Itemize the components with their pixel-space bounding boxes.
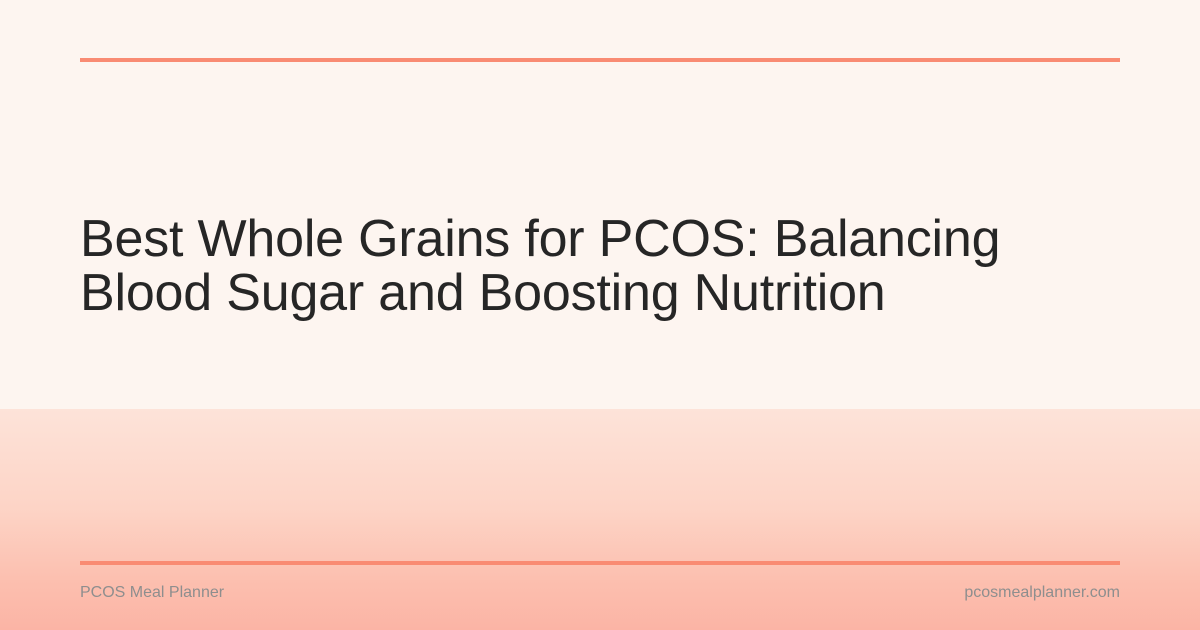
footer-accent-rule <box>80 561 1120 565</box>
footer-brand-name: PCOS Meal Planner <box>80 583 224 603</box>
top-accent-rule <box>80 58 1120 62</box>
title-block: Best Whole Grains for PCOS: Balancing Bl… <box>80 212 1080 320</box>
footer-website-url: pcosmealplanner.com <box>964 583 1120 603</box>
page-title-line-2: Sugar and Boosting Nutrition <box>226 264 885 322</box>
card-footer: PCOS Meal Planner pcosmealplanner.com <box>80 581 1120 605</box>
page-title: Best Whole Grains for PCOS: Balancing Bl… <box>80 212 1080 320</box>
social-share-card: Best Whole Grains for PCOS: Balancing Bl… <box>0 0 1200 630</box>
